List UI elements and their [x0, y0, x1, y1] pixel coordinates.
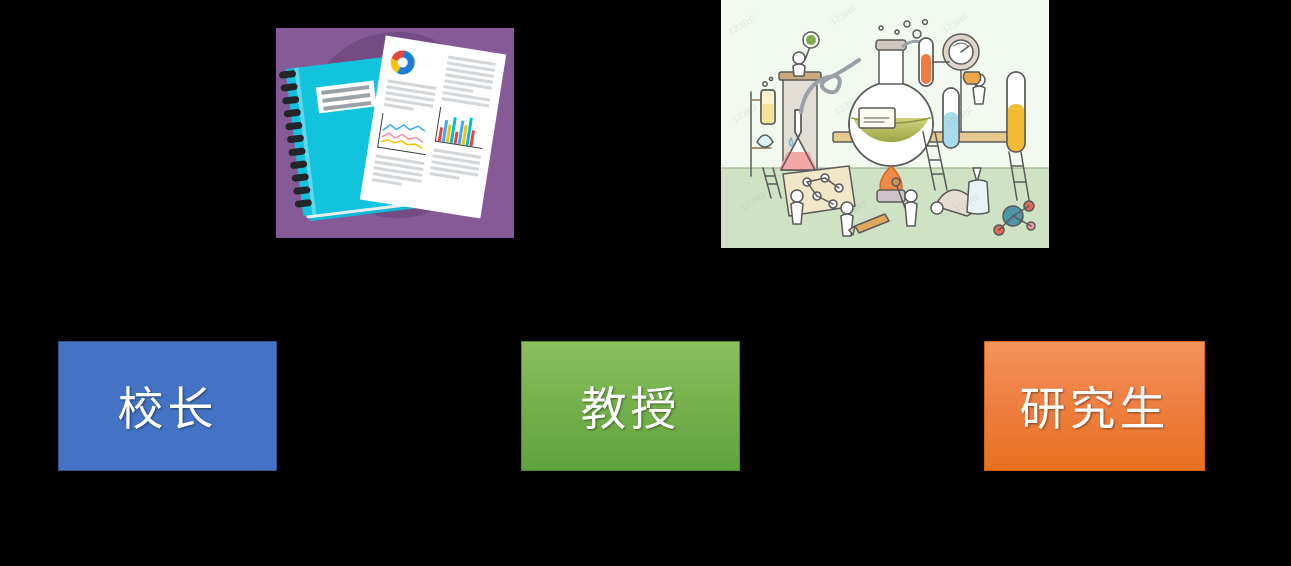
role-box-graduate[interactable]: 研究生	[984, 341, 1205, 471]
laboratory-doodle-illustration[interactable]: 123RF 123RF 123RF 123RF 123RF 123RF 123R…	[721, 0, 1049, 248]
role-box-principal[interactable]: 校长	[58, 341, 277, 471]
line-chart-svg	[379, 113, 431, 152]
laboratory-scene-svg	[721, 0, 1049, 248]
report-document-graphic	[360, 35, 506, 218]
bar-chart-bars	[437, 111, 476, 146]
role-box-professor[interactable]: 教授	[521, 341, 740, 471]
role-label-principal: 校长	[118, 373, 218, 439]
role-label-graduate: 研究生	[1020, 373, 1170, 439]
donut-chart-icon	[389, 49, 416, 76]
role-label-professor: 教授	[581, 373, 681, 439]
notebook-report-illustration[interactable]	[276, 28, 514, 238]
slide-canvas: 123RF 123RF 123RF 123RF 123RF 123RF 123R…	[0, 0, 1291, 566]
bar-chart-graphic	[434, 107, 487, 149]
notebook-cover-label	[316, 80, 377, 113]
line-chart-graphic	[377, 113, 430, 155]
